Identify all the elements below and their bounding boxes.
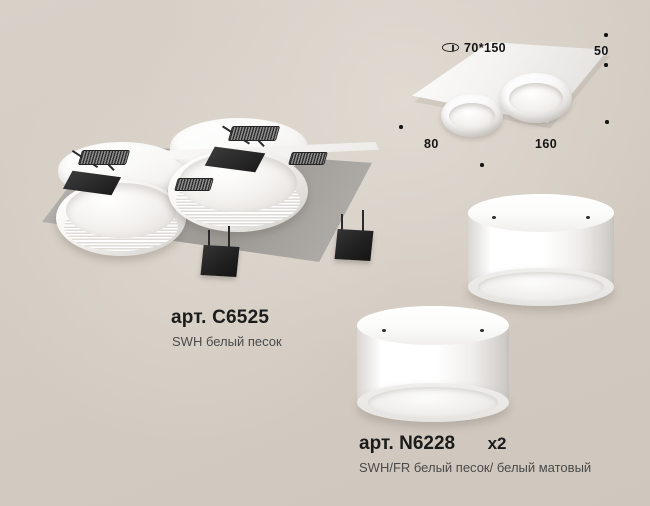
bezel-upper-screw-right	[586, 216, 590, 219]
driver-wire-right-b	[362, 210, 364, 232]
dimension-marker-dot	[399, 125, 403, 129]
terminal-block-left	[201, 245, 240, 277]
bezel-lower-screw-left	[382, 329, 386, 332]
bezel-quantity-label: x2	[488, 434, 507, 454]
product-image-canvas: арт. C6525 SWH белый песок 70*150 50 80 …	[0, 0, 650, 506]
bezel-ring-upper	[468, 194, 614, 306]
dimension-width-label: 80	[424, 137, 439, 151]
bezel-label-group: арт. N6228 x2	[359, 433, 506, 455]
installed-lamp-left-inner	[449, 103, 495, 130]
bezel-upper-screw-left	[492, 216, 496, 219]
spring-clip-front-right	[288, 152, 328, 165]
frame-description-label: SWH белый песок	[172, 334, 282, 349]
bezel-lower-aperture	[368, 387, 499, 418]
dimension-marker-dot	[604, 33, 608, 37]
cutout-oval-icon	[442, 43, 459, 52]
bezel-upper-aperture	[478, 272, 604, 302]
dimension-length-label: 160	[535, 137, 557, 151]
bezel-lower-screw-right	[480, 329, 484, 332]
driver-wire-left-b	[228, 226, 230, 248]
bezel-article-label: арт. N6228	[359, 433, 455, 455]
bezel-upper-top	[468, 194, 614, 232]
dimension-diagram: 70*150 50 80 160	[390, 24, 650, 174]
installed-ceiling-render	[408, 42, 618, 160]
spring-clip-left	[78, 150, 130, 165]
bezel-description-label: SWH/FR белый песок/ белый матовый	[359, 460, 591, 475]
spring-clip-right	[228, 126, 280, 141]
cutout-size-label: 70*150	[464, 41, 506, 55]
dimension-marker-dot	[604, 63, 608, 67]
dimension-marker-dot	[605, 120, 609, 124]
bezel-ring-lower	[357, 306, 509, 422]
installed-lamp-right	[500, 73, 572, 123]
installed-lamp-right-inner	[509, 83, 562, 114]
dimension-marker-dot	[480, 163, 484, 167]
installed-lamp-left	[441, 94, 503, 137]
dimension-height-label: 50	[594, 44, 609, 58]
terminal-block-right	[335, 229, 374, 261]
frame-product-render	[18, 122, 394, 294]
frame-article-label: арт. C6525	[171, 307, 269, 329]
spring-clip-front-left	[174, 178, 214, 191]
reflector-cup-left	[56, 180, 186, 256]
